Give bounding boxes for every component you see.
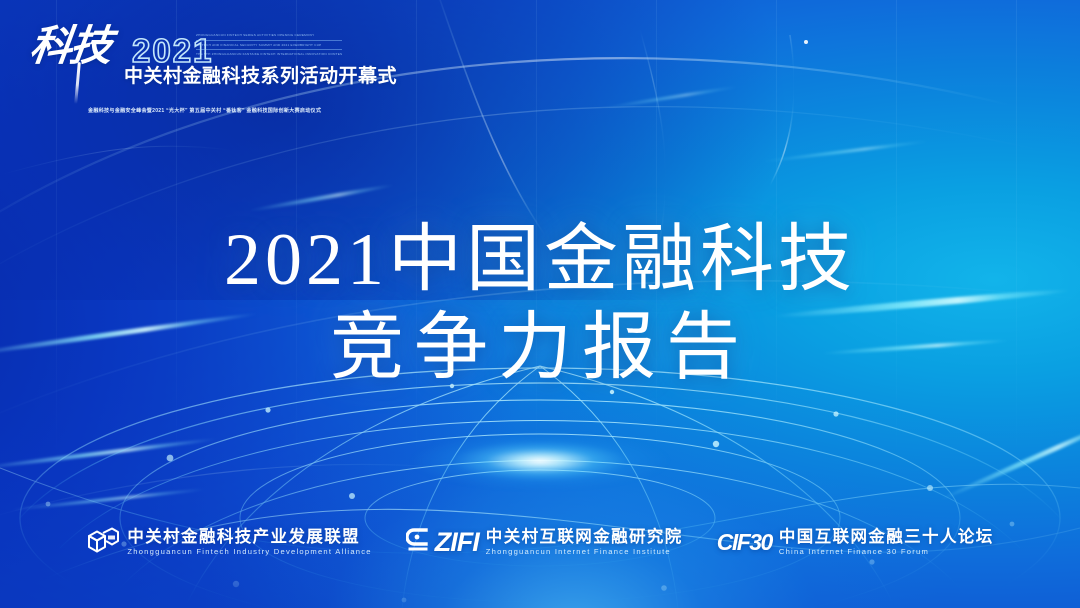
lockup-headline: 中关村金融科技系列活动开幕式 (124, 66, 397, 88)
event-lockup: 科技 2021 ZHONGGUANCUN FINTECH SERIES ACTI… (24, 22, 324, 104)
sponsor-logo-bar: 中关村金融科技产业发展联盟 Zhongguancun Fintech Indus… (0, 518, 1080, 566)
lockup-english-line-2: FINTECH AND FINANCIAL SECURITY SUMMIT AN… (196, 43, 342, 49)
calligraphy-keji: 科技 (27, 26, 112, 68)
logo-name-cn: 中关村金融科技产业发展联盟 (127, 528, 371, 547)
lockup-english-line-3: THE 5TH ZHONGGUANCUN FANTAIKE FINTECH IN… (196, 52, 342, 58)
zifi-bracket-icon (406, 527, 428, 557)
lockup-english-rule (196, 49, 342, 50)
logo-wordmark-cif30: CIF30 (717, 531, 772, 554)
logo-name-en: Zhongguancun Fintech Industry Developmen… (127, 547, 371, 557)
lockup-subline: 金融科技与金融安全峰会暨2021 “光大杯” 第五届中关村 “番钛客” 金融科技… (88, 107, 321, 115)
globe-center-burst (410, 432, 670, 490)
logo-name-cn: 中关村互联网金融研究院 (486, 528, 683, 547)
logo-text-block: 中关村互联网金融研究院 Zhongguancun Internet Financ… (486, 528, 683, 557)
logo-name-cn: 中国互联网金融三十人论坛 (779, 528, 994, 547)
cube-logo-icon (86, 526, 120, 558)
logo-wordmark-zifi: ZIFI (435, 529, 479, 556)
logo-cif30-forum: CIF30 中国互联网金融三十人论坛 China Internet Financ… (717, 528, 994, 557)
lockup-english-block: ZHONGGUANCUN FINTECH SERIES ACTIVITIES O… (196, 33, 342, 58)
lockup-english-rule (196, 40, 342, 41)
logo-zgc-fintech-alliance: 中关村金融科技产业发展联盟 Zhongguancun Fintech Indus… (86, 526, 371, 558)
logo-name-en: Zhongguancun Internet Finance Institute (486, 547, 683, 557)
poster-canvas: 科技 2021 ZHONGGUANCUN FINTECH SERIES ACTI… (0, 0, 1080, 608)
logo-text-block: 中关村金融科技产业发展联盟 Zhongguancun Fintech Indus… (127, 528, 371, 557)
logo-text-block: 中国互联网金融三十人论坛 China Internet Finance 30 F… (779, 528, 994, 557)
logo-zgc-internet-finance-institute: ZIFI 中关村互联网金融研究院 Zhongguancun Internet F… (406, 527, 683, 557)
lockup-english-line-1: ZHONGGUANCUN FINTECH SERIES ACTIVITIES O… (196, 33, 342, 39)
logo-name-en: China Internet Finance 30 Forum (779, 547, 994, 557)
